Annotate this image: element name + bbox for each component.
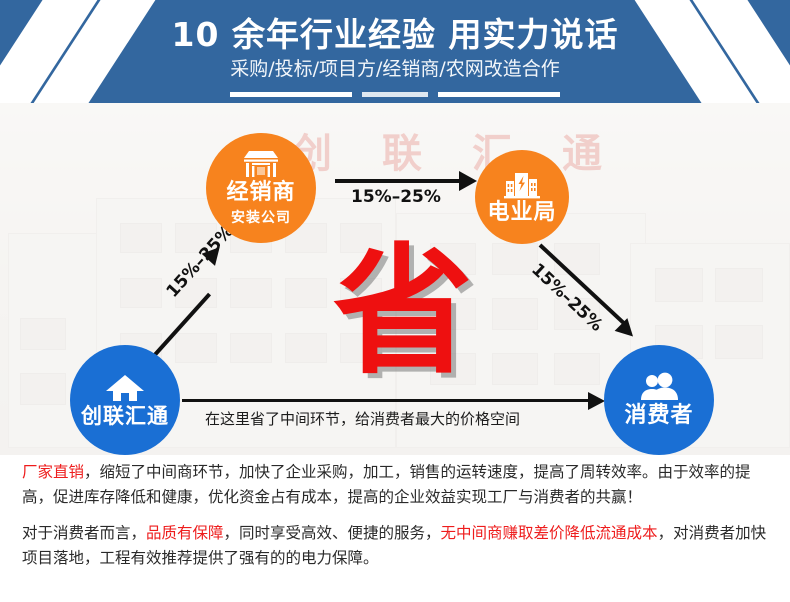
header-title: 10 余年行业经验 用实力说话 (0, 8, 790, 56)
paragraph-two-highlight-1: 品质有保障 (146, 524, 224, 542)
paragraph-two-mid: ，同时享受高效、便捷的服务， (224, 524, 441, 542)
paragraph-one-highlight: 厂家直销 (22, 463, 84, 481)
node-dealer[interactable]: 经销商 安装公司 (206, 133, 316, 243)
watermark-char-4: 通 (562, 121, 608, 179)
node-dealer-sublabel: 安装公司 (231, 207, 291, 227)
node-consumer[interactable]: 消费者 (604, 345, 714, 455)
node-bureau[interactable]: 电业局 (475, 150, 569, 244)
node-company[interactable]: 创联汇通 (70, 345, 180, 455)
node-dealer-label: 经销商 (226, 181, 295, 204)
edge-label-dealer-to-bureau: 15%–25% (351, 187, 441, 207)
paragraph-one-body: ，缩短了中间商环节，加快了企业采购，加工，销售的运转速度，提高了周转效率。由于效… (22, 463, 751, 506)
node-bureau-label: 电业局 (487, 201, 556, 224)
page-header: 10 余年行业经验 用实力说话 采购/投标/项目方/经销商/农网改造合作 (0, 0, 790, 103)
power-building-icon (503, 169, 541, 199)
paragraph-two-highlight-2: 无中间商赚取差价降低流通成本 (441, 524, 658, 542)
node-company-label: 创联汇通 (81, 405, 169, 427)
header-subtitle: 采购/投标/项目方/经销商/农网改造合作 (0, 54, 790, 81)
header-divider (230, 92, 560, 97)
flow-diagram: 创 联 汇 通 15%–25% 15%–25% 15%–25% 在这里省了中间环… (0, 103, 790, 455)
node-consumer-label: 消费者 (624, 404, 693, 427)
emphasis-character: 省 (333, 243, 473, 383)
paragraph-one: 厂家直销，缩短了中间商环节，加快了企业采购，加工，销售的运转速度，提高了周转效率… (22, 460, 774, 510)
watermark-char-2: 联 (382, 121, 428, 179)
paragraph-two-lead: 对于消费者而言， (22, 524, 146, 542)
users-icon (638, 372, 680, 402)
edge-label-company-to-consumer: 在这里省了中间环节，给消费者最大的价格空间 (205, 408, 520, 429)
house-icon (104, 373, 146, 403)
page-root: 10 余年行业经验 用实力说话 采购/投标/项目方/经销商/农网改造合作 (0, 0, 790, 602)
shop-icon (241, 149, 281, 179)
paragraph-two: 对于消费者而言，品质有保障，同时享受高效、便捷的服务，无中间商赚取差价降低流通成… (22, 521, 774, 571)
